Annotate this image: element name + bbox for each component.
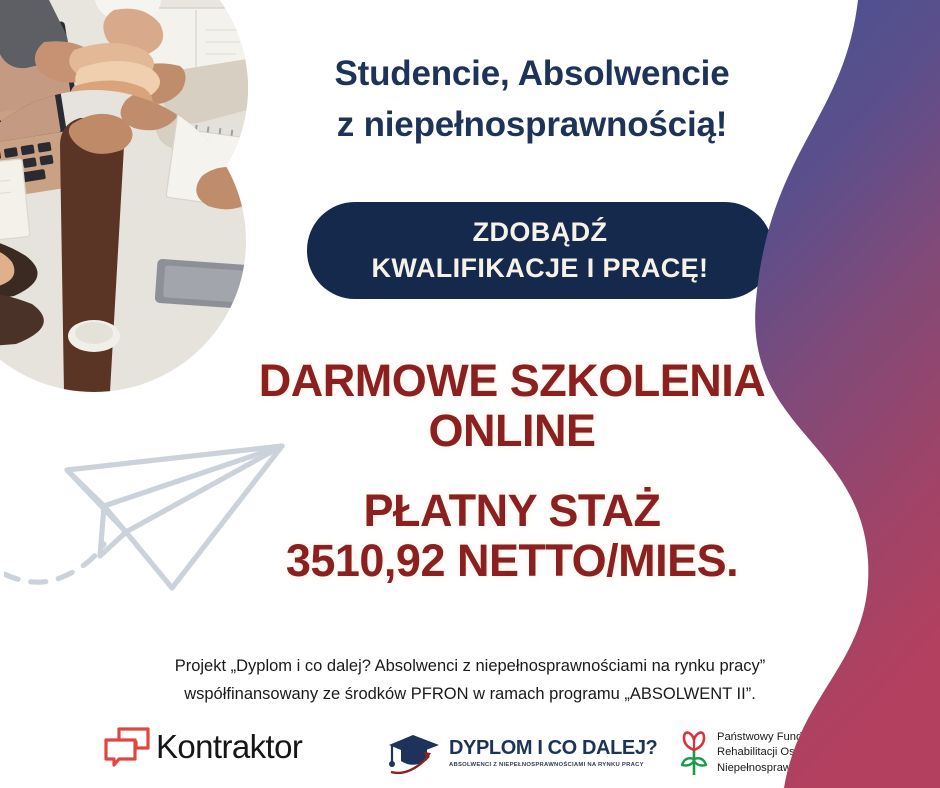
logo-dyplom: DYPLOM I CO DALEJ? ABSOLWENCI Z NIEPEŁNO… — [383, 728, 657, 778]
offer-training-line-1: DARMOWE SZKOLENIA — [222, 356, 802, 406]
speech-bubbles-icon — [103, 726, 151, 768]
logo-pfron-line-2: Rehabilitacji Osób — [717, 745, 820, 760]
logo-kontraktor: Kontraktor — [103, 726, 302, 768]
logos-row: Kontraktor DYPLOM I CO DALEJ? ABSOLWENCI… — [95, 722, 870, 784]
poster-canvas: Studencie, Absolwencie z niepełnosprawno… — [0, 0, 940, 788]
logo-dyplom-title: DYPLOM I CO DALEJ? — [449, 738, 657, 759]
offer-internship-amount: 3510,92 NETTO/MIES. — [222, 536, 802, 586]
logo-dyplom-subtitle: ABSOLWENCI Z NIEPEŁNOSPRAWNOŚCIAMI NA RY… — [449, 762, 657, 768]
poster-headline: Studencie, Absolwencie z niepełnosprawno… — [262, 48, 802, 150]
footer-line-2: współfinansowany ze środków PFRON w rama… — [90, 680, 850, 708]
cta-line-2: KWALIFIKACJE I PRACĘ! — [372, 251, 709, 287]
offer-internship: PŁATNY STAŻ 3510,92 NETTO/MIES. — [222, 486, 802, 587]
headline-line-2: z niepełnosprawnością! — [262, 99, 802, 150]
logo-kontraktor-text: Kontraktor — [156, 728, 302, 766]
cta-line-1: ZDOBĄDŹ — [473, 215, 608, 251]
tulip-icon — [678, 729, 710, 777]
footer-funding-text: Projekt „Dyplom i co dalej? Absolwenci z… — [90, 652, 850, 709]
offer-training-line-2: ONLINE — [222, 406, 802, 456]
team-photo-circle-bottom — [0, 90, 246, 392]
team-photo-illustration-bottom — [0, 90, 246, 392]
logo-pfron-line-1: Państwowy Fundusz — [717, 730, 820, 745]
logo-pfron-line-3: Niepełnosprawnych — [717, 761, 820, 776]
offer-internship-line-1: PŁATNY STAŻ — [222, 486, 802, 536]
logo-dyplom-texts: DYPLOM I CO DALEJ? ABSOLWENCI Z NIEPEŁNO… — [449, 738, 657, 768]
headline-line-1: Studencie, Absolwencie — [262, 48, 802, 99]
cta-button[interactable]: ZDOBĄDŹ KWALIFIKACJE I PRACĘ! — [307, 202, 773, 299]
logo-pfron-texts: Państwowy Fundusz Rehabilitacji Osób Nie… — [717, 730, 820, 776]
footer-line-1: Projekt „Dyplom i co dalej? Absolwenci z… — [90, 652, 850, 680]
offer-training: DARMOWE SZKOLENIA ONLINE — [222, 356, 802, 457]
logo-pfron: Państwowy Fundusz Rehabilitacji Osób Nie… — [678, 729, 820, 777]
graduation-cap-icon — [383, 728, 443, 778]
